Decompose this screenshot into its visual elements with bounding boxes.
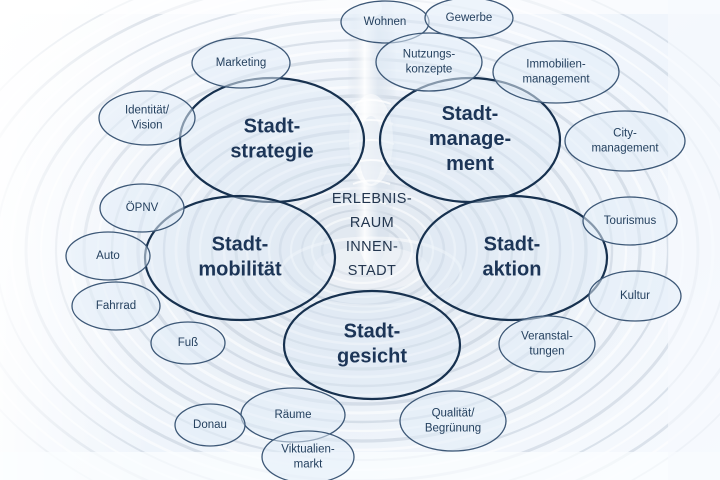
satellite-node-fahrrad[interactable]: Fahrrad — [72, 282, 160, 330]
satellite-node-label-wohnen: Wohnen — [364, 16, 407, 28]
satellite-node-shape-citymanagement[interactable] — [565, 111, 685, 171]
satellite-node-label-kultur: Kultur — [620, 290, 650, 302]
satellite-node-tourismus[interactable]: Tourismus — [583, 197, 677, 245]
satellite-node-label-marketing: Marketing — [216, 57, 267, 69]
satellite-node-fuss[interactable]: Fuß — [151, 322, 225, 364]
satellite-node-marketing[interactable]: Marketing — [192, 38, 290, 88]
satellite-node-label-gewerbe: Gewerbe — [446, 12, 493, 24]
satellite-node-label-fuss: Fuß — [178, 337, 198, 349]
center-label-group: ERLEBNIS-RAUMINNEN-STADT — [332, 191, 412, 279]
satellite-node-donau[interactable]: Donau — [175, 404, 245, 446]
satellite-node-label-tourismus: Tourismus — [604, 215, 657, 227]
satellite-node-shape-qualitaetbegruenung[interactable] — [400, 391, 506, 451]
satellite-node-citymanagement[interactable]: City-management — [565, 111, 685, 171]
main-node-stadtstrategie[interactable]: Stadt-strategie — [180, 78, 364, 202]
main-node-stadtgesicht[interactable]: Stadt-gesicht — [284, 291, 460, 399]
satellite-node-kultur[interactable]: Kultur — [589, 271, 681, 321]
satellite-node-oepnv[interactable]: ÖPNV — [100, 184, 184, 232]
diagram-canvas: Stadt-strategieStadt-manage-mentStadt-mo… — [0, 0, 720, 480]
satellite-node-nutzungskonzepte[interactable]: Nutzungs-konzepte — [376, 33, 482, 91]
satellite-node-shape-identitaetvision[interactable] — [99, 91, 195, 145]
satellite-node-shape-nutzungskonzepte[interactable] — [376, 33, 482, 91]
satellite-node-immobilienmanagement[interactable]: Immobilien-management — [493, 41, 619, 103]
satellite-node-label-auto: Auto — [96, 250, 120, 262]
satellite-node-label-fahrrad: Fahrrad — [96, 300, 136, 312]
satellite-node-shape-immobilienmanagement[interactable] — [493, 41, 619, 103]
center-title: ERLEBNIS-RAUMINNEN-STADT — [332, 191, 412, 279]
satellite-node-viktualienmarkt[interactable]: Viktualien-markt — [262, 431, 354, 480]
satellite-node-gewerbe[interactable]: Gewerbe — [425, 0, 513, 38]
satellite-node-label-raeume: Räume — [274, 409, 311, 421]
satellite-node-label-oepnv: ÖPNV — [126, 202, 159, 214]
satellite-node-shape-veranstaltungen[interactable] — [499, 316, 595, 372]
satellite-node-qualitaetbegruenung[interactable]: Qualität/Begrünung — [400, 391, 506, 451]
satellite-node-auto[interactable]: Auto — [66, 232, 150, 280]
concept-map: Stadt-strategieStadt-manage-mentStadt-mo… — [0, 0, 720, 480]
main-node-stadtaktion[interactable]: Stadt-aktion — [417, 196, 607, 320]
satellite-node-veranstaltungen[interactable]: Veranstal-tungen — [499, 316, 595, 372]
satellite-node-label-donau: Donau — [193, 419, 227, 431]
satellite-node-identitaetvision[interactable]: Identität/Vision — [99, 91, 195, 145]
